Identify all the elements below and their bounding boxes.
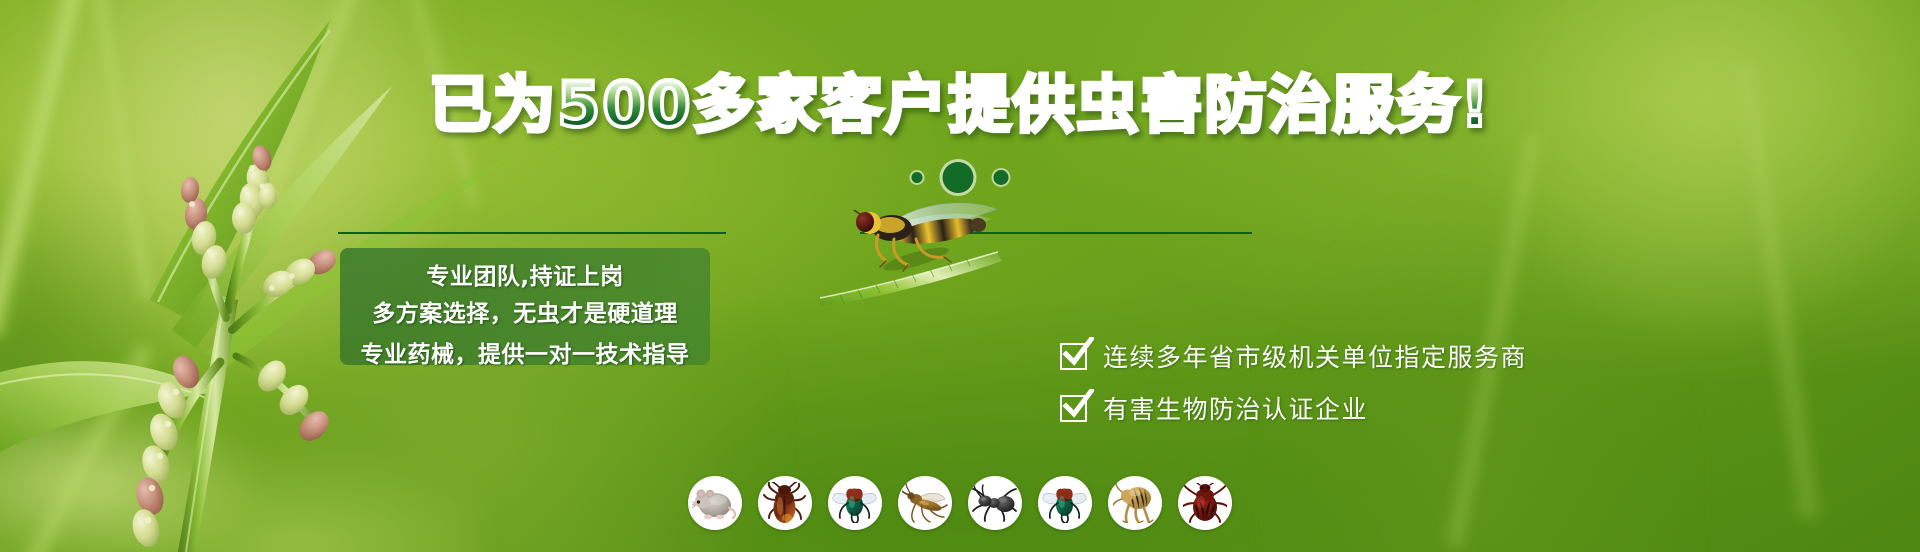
certification-checklist: 连续多年省市级机关单位指定服务商 有害生物防治认证企业 <box>1060 330 1527 434</box>
decorative-dot-row <box>912 160 1009 194</box>
fly-on-stalk-photo <box>820 195 1080 305</box>
promotional-banner: 已为500多家客户提供虫害防治服务! 专业团队,持证上岗 多方案选择，无虫才是硬… <box>0 0 1920 552</box>
mouse-icon <box>688 476 742 530</box>
fly-icon <box>1038 476 1092 530</box>
banner-headline: 已为500多家客户提供虫害防治服务! <box>0 74 1920 136</box>
feature-panel: 专业团队,持证上岗 多方案选择，无虫才是硬道理 专业药械，提供一对一技术指导 <box>340 248 710 365</box>
headline-text: 已为500多家客户提供虫害防治服务! <box>429 74 1491 136</box>
divider-left <box>338 232 726 234</box>
decorative-dot-large <box>943 162 974 193</box>
decorative-dot-medium <box>994 170 1009 185</box>
checklist-item: 连续多年省市级机关单位指定服务商 <box>1060 330 1527 382</box>
checklist-item-label: 有害生物防治认证企业 <box>1103 390 1368 426</box>
flea-icon <box>1108 476 1162 530</box>
mosquito-icon <box>898 476 952 530</box>
ant-icon <box>968 476 1022 530</box>
pest-icon-row <box>688 476 1232 530</box>
checkbox-checked-icon <box>1060 343 1087 370</box>
decorative-dot-small <box>912 172 923 183</box>
checklist-item: 有害生物防治认证企业 <box>1060 382 1527 434</box>
feature-panel-line-3: 专业药械，提供一对一技术指导 <box>356 335 694 376</box>
checklist-item-label: 连续多年省市级机关单位指定服务商 <box>1103 338 1527 374</box>
cockroach-icon <box>758 476 812 530</box>
fly-icon <box>828 476 882 530</box>
feature-panel-line-2: 多方案选择，无虫才是硬道理 <box>356 294 694 335</box>
bedbug-icon <box>1178 476 1232 530</box>
feature-panel-line-1: 专业团队,持证上岗 <box>356 260 694 294</box>
checkbox-checked-icon <box>1060 395 1087 422</box>
